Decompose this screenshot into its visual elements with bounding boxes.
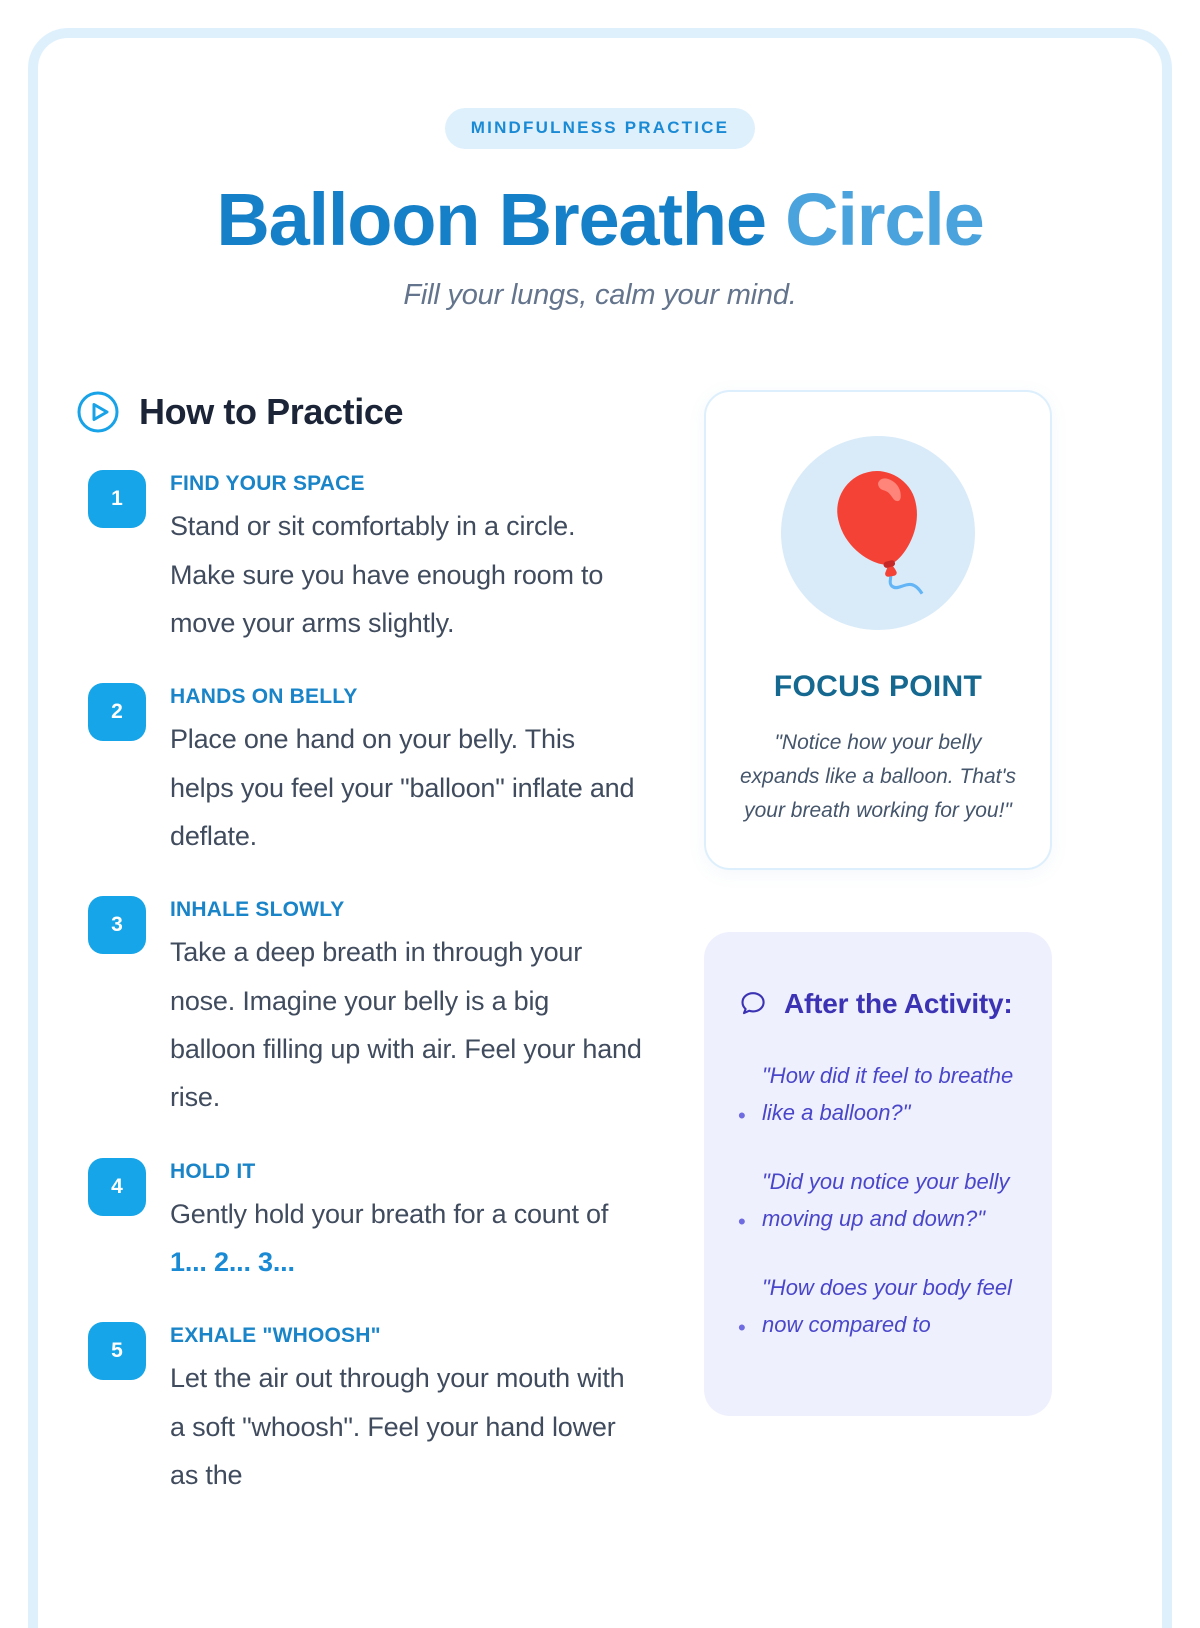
step-item: 5 EXHALE "WHOOSH" Let the air out throug… bbox=[88, 1322, 642, 1499]
speech-bubble-icon bbox=[738, 989, 768, 1019]
focus-point-card: 🎈 FOCUS POINT "Notice how your belly exp… bbox=[704, 390, 1052, 870]
worksheet-page: MINDFULNESS PRACTICE Balloon Breathe Cir… bbox=[28, 28, 1172, 1628]
practice-column: How to Practice 1 FIND YOUR SPACE Stand … bbox=[76, 390, 642, 1535]
step-item: 2 HANDS ON BELLY Place one hand on your … bbox=[88, 683, 642, 860]
focus-point-title: FOCUS POINT bbox=[732, 670, 1024, 704]
step-item: 4 HOLD IT Gently hold your breath for a … bbox=[88, 1158, 642, 1287]
bullet-glyph: • bbox=[738, 1210, 746, 1234]
step-number-badge: 3 bbox=[88, 896, 146, 954]
sidebar-column: 🎈 FOCUS POINT "Notice how your belly exp… bbox=[704, 390, 1052, 1535]
step-text: Place one hand on your belly. This helps… bbox=[170, 715, 642, 860]
practice-heading: How to Practice bbox=[76, 390, 642, 434]
step-number-badge: 1 bbox=[88, 470, 146, 528]
step-title: FIND YOUR SPACE bbox=[170, 472, 642, 496]
step-text: Take a deep breath in through your nose.… bbox=[170, 928, 642, 1121]
step-item: 3 INHALE SLOWLY Take a deep breath in th… bbox=[88, 896, 642, 1121]
after-activity-heading: After the Activity: bbox=[738, 984, 1018, 1024]
list-item: • "How does your body feel now compared … bbox=[738, 1270, 1018, 1344]
list-item: • "How did it feel to breathe like a bal… bbox=[738, 1058, 1018, 1132]
page-title-primary: Balloon Breathe bbox=[216, 178, 785, 261]
list-item-text: "Did you notice your belly moving up and… bbox=[762, 1164, 1018, 1238]
bullet-glyph: • bbox=[738, 1316, 746, 1340]
step-title: HOLD IT bbox=[170, 1160, 642, 1184]
practice-heading-label: How to Practice bbox=[139, 391, 403, 433]
play-circle-icon bbox=[76, 390, 120, 434]
step-number-badge: 4 bbox=[88, 1158, 146, 1216]
step-text: Stand or sit comfortably in a circle. Ma… bbox=[170, 502, 642, 647]
step-text-before: Gently hold your breath for a count of bbox=[170, 1199, 608, 1229]
list-item: • "Did you notice your belly moving up a… bbox=[738, 1164, 1018, 1238]
step-number-badge: 2 bbox=[88, 683, 146, 741]
step-text: Gently hold your breath for a count of 1… bbox=[170, 1190, 642, 1287]
page-header: MINDFULNESS PRACTICE Balloon Breathe Cir… bbox=[76, 38, 1124, 312]
step-number-badge: 5 bbox=[88, 1322, 146, 1380]
content-columns: How to Practice 1 FIND YOUR SPACE Stand … bbox=[76, 390, 1124, 1535]
step-title: INHALE SLOWLY bbox=[170, 898, 642, 922]
page-title: Balloon Breathe Circle bbox=[76, 181, 1124, 259]
after-activity-list: • "How did it feel to breathe like a bal… bbox=[738, 1058, 1018, 1344]
step-title: HANDS ON BELLY bbox=[170, 685, 642, 709]
step-count-accent: 1... 2... 3... bbox=[170, 1247, 295, 1277]
step-title: EXHALE "WHOOSH" bbox=[170, 1324, 642, 1348]
list-item-text: "How did it feel to breathe like a ballo… bbox=[762, 1058, 1018, 1132]
step-item: 1 FIND YOUR SPACE Stand or sit comfortab… bbox=[88, 470, 642, 647]
list-item-text: "How does your body feel now compared to bbox=[762, 1270, 1018, 1344]
after-activity-card: After the Activity: • "How did it feel t… bbox=[704, 932, 1052, 1415]
page-subtitle: Fill your lungs, calm your mind. bbox=[76, 279, 1124, 312]
focus-point-quote: "Notice how your belly expands like a ba… bbox=[732, 726, 1024, 828]
balloon-icon-wrapper: 🎈 bbox=[781, 436, 975, 630]
page-title-secondary: Circle bbox=[785, 178, 983, 261]
after-activity-title: After the Activity: bbox=[784, 984, 1013, 1024]
step-text: Let the air out through your mouth with … bbox=[170, 1354, 642, 1499]
balloon-icon: 🎈 bbox=[808, 477, 947, 589]
category-badge: MINDFULNESS PRACTICE bbox=[445, 108, 755, 149]
steps-list: 1 FIND YOUR SPACE Stand or sit comfortab… bbox=[76, 470, 642, 1499]
bullet-glyph: • bbox=[738, 1104, 746, 1128]
